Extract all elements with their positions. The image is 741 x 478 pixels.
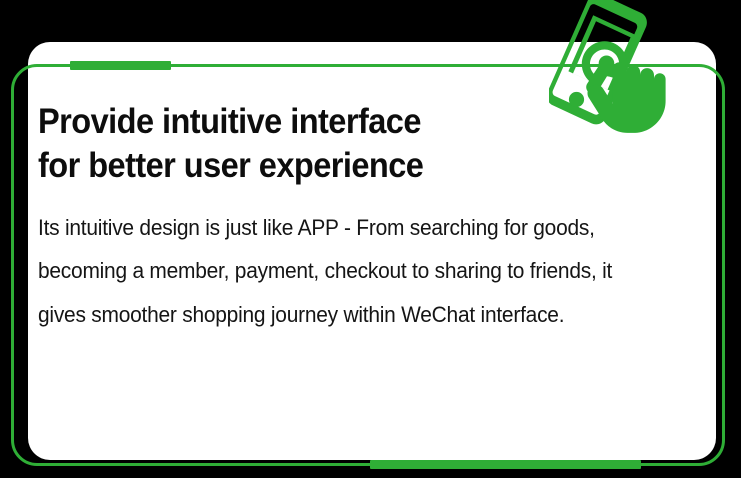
- feature-card-slide: Provide intuitive interface for better u…: [0, 0, 741, 478]
- accent-bar-bottom: [370, 460, 641, 469]
- phone-tap-icon: [549, 0, 694, 146]
- accent-bar-top: [70, 61, 171, 70]
- card-description: Its intuitive design is just like APP - …: [38, 188, 663, 336]
